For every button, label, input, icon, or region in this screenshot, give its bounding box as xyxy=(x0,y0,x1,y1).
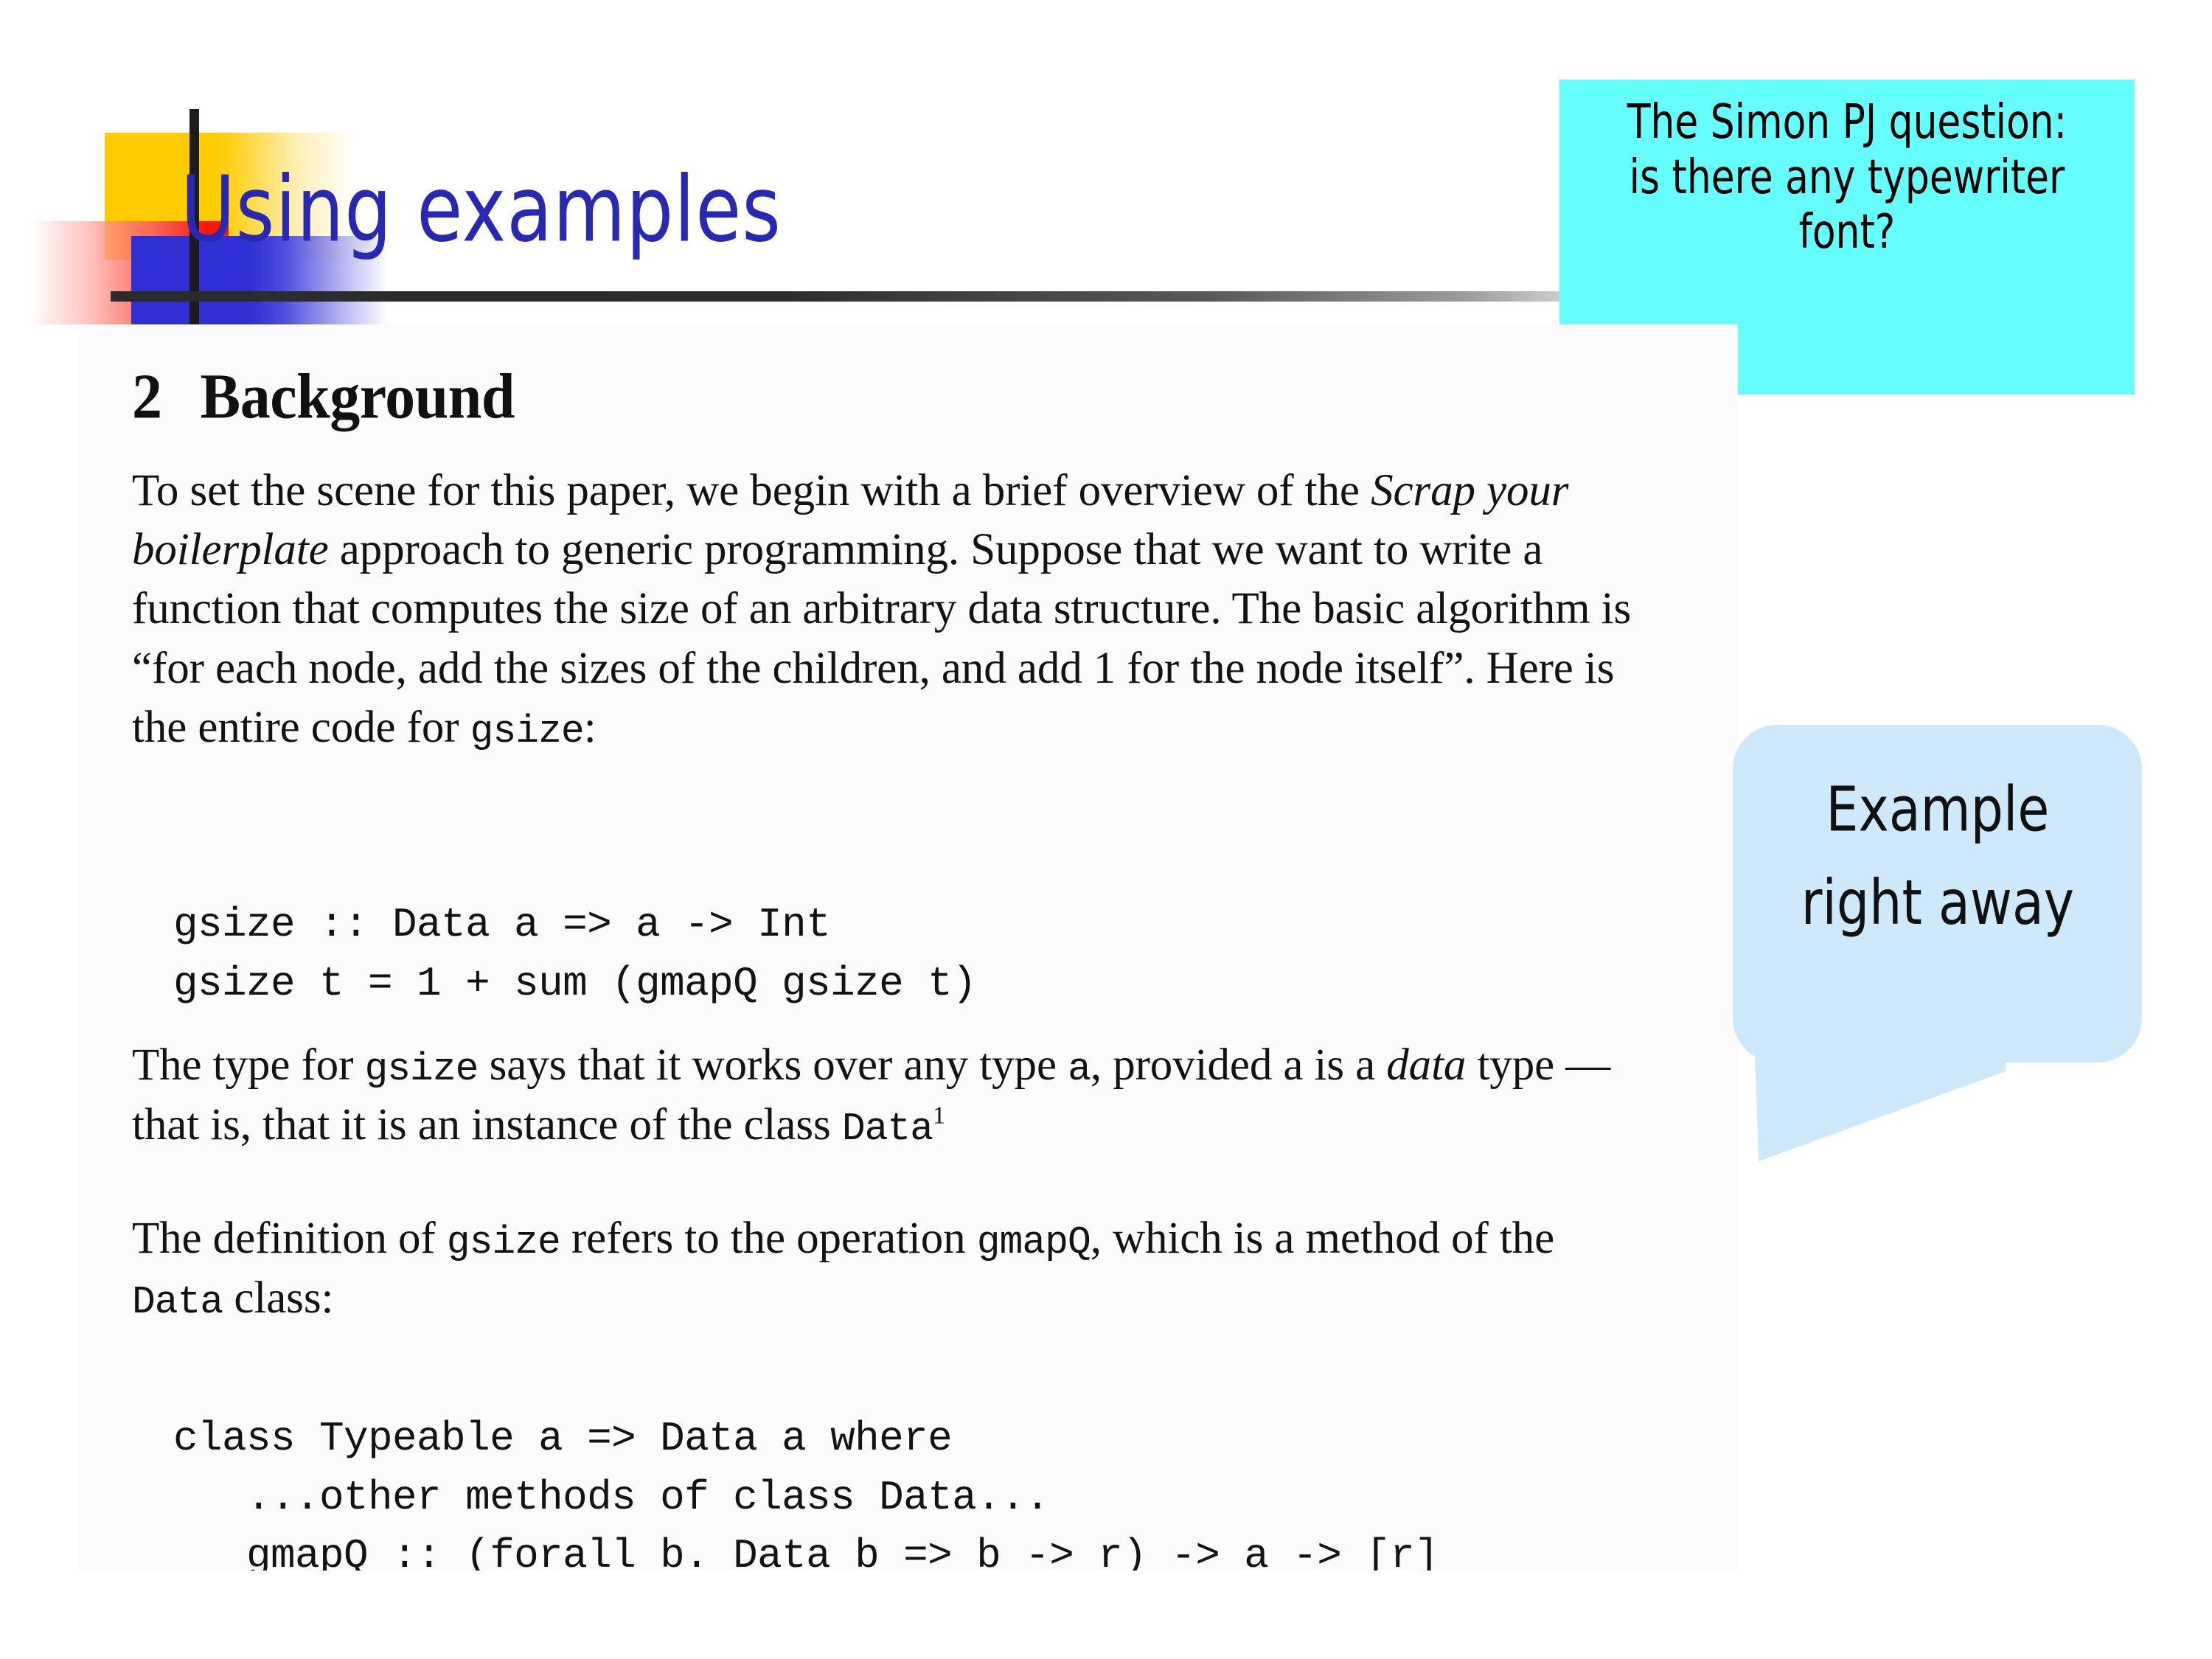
paragraph2-text-b: says that it works over any type xyxy=(478,1040,1068,1090)
callout-line-1: Example xyxy=(1801,763,2073,857)
paragraph3-text-a: The definition of xyxy=(132,1214,447,1263)
paper-paragraph-3: The definition of gsize refers to the op… xyxy=(132,1209,1651,1328)
paragraph2-code-gsize: gsize xyxy=(364,1047,478,1091)
paper-section-number: 2 xyxy=(132,361,162,431)
paper-section-heading: 2Background xyxy=(132,360,515,434)
paragraph3-text-d: class: xyxy=(223,1273,333,1323)
paragraph2-code-a: a xyxy=(1068,1047,1091,1091)
callout-example-right-away: Example right away xyxy=(1733,725,2142,1062)
callout-text: Example right away xyxy=(1801,763,2073,950)
paragraph1-text-b: approach to generic programming. Suppose… xyxy=(132,525,1631,752)
paper-paragraph-1: To set the scene for this paper, we begi… xyxy=(132,462,1651,758)
paragraph2-text-a: The type for xyxy=(132,1040,364,1090)
code-block-1-line-1: gsize :: Data a => a -> Int xyxy=(173,901,830,948)
paper-code-block-1: gsize :: Data a => a -> Int gsize t = 1 … xyxy=(173,896,976,1013)
code-block-2-line-1: class Typeable a => Data a where xyxy=(173,1415,952,1462)
paragraph3-text-c: , which is a method of the xyxy=(1091,1214,1554,1263)
paragraph2-code-data: Data xyxy=(842,1107,933,1151)
paragraph1-text-c: : xyxy=(584,703,597,752)
paragraph2-text-c: , provided a is a xyxy=(1091,1040,1386,1090)
callout-line-2: right away xyxy=(1801,857,2073,950)
code-block-2-line-3: gmapQ :: (forall b. Data b => b -> r) ->… xyxy=(173,1532,1439,1571)
paragraph3-code-gmapq: gmapQ xyxy=(977,1220,1091,1265)
paragraph2-italic-data: data xyxy=(1386,1040,1466,1090)
paragraph3-code-data: Data xyxy=(132,1280,223,1324)
annotation-note-line-3: font? xyxy=(1571,200,2124,265)
scanned-paper-excerpt: 2Background To set the scene for this pa… xyxy=(79,324,1738,1571)
paper-code-block-2: class Typeable a => Data a where ...othe… xyxy=(173,1410,1439,1571)
paragraph3-code-gsize: gsize xyxy=(447,1220,560,1265)
paragraph1-text-a: To set the scene for this paper, we begi… xyxy=(132,466,1371,515)
code-block-2-line-2: ...other methods of class Data... xyxy=(173,1474,1049,1521)
title-underline-rule xyxy=(111,291,1600,302)
paragraph2-footnote-marker: 1 xyxy=(933,1102,945,1129)
speech-bubble-tail xyxy=(1755,1051,2006,1161)
page-title: Using examples xyxy=(181,156,782,262)
code-block-1-line-2: gsize t = 1 + sum (gmapQ gsize t) xyxy=(173,960,976,1007)
slide-canvas: Using examples The Simon PJ question: is… xyxy=(0,0,2212,1659)
paper-section-title: Background xyxy=(201,361,515,431)
paragraph3-text-b: refers to the operation xyxy=(560,1214,977,1263)
paragraph1-code-gsize: gsize xyxy=(470,709,584,754)
paper-paragraph-2: The type for gsize says that it works ov… xyxy=(132,1036,1651,1155)
